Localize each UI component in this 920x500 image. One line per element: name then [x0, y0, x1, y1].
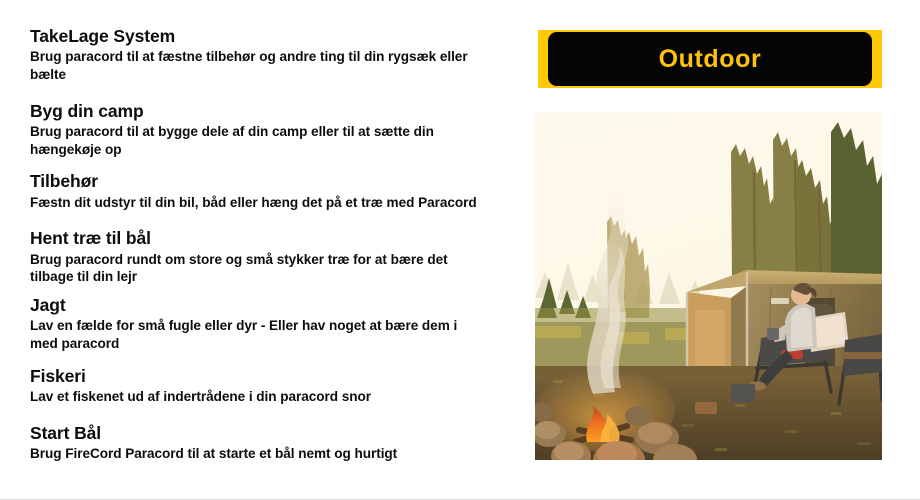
list-item: Start Bål Brug FireCord Paracord til at … [30, 423, 482, 463]
item-description: Lav et fiskenet ud af indertrådene i din… [30, 388, 482, 406]
item-title: TakeLage System [30, 26, 482, 47]
list-item: Byg din camp Brug paracord til at bygge … [30, 101, 482, 159]
item-title: Byg din camp [30, 101, 482, 122]
item-description: Brug paracord til at fæstne tilbehør og … [30, 48, 482, 83]
item-description: Brug paracord rundt om store og små styk… [30, 251, 482, 286]
list-item: Jagt Lav en fælde for små fugle eller dy… [30, 295, 482, 353]
list-item: Hent træ til bål Brug paracord rundt om … [30, 228, 482, 286]
slide-root: TakeLage System Brug paracord til at fæs… [0, 0, 920, 500]
item-title: Hent træ til bål [30, 228, 482, 249]
item-title: Start Bål [30, 423, 482, 444]
campsite-photo [535, 112, 882, 460]
list-item: TakeLage System Brug paracord til at fæs… [30, 26, 482, 84]
banner-inner-panel: Outdoor [548, 32, 872, 86]
item-title: Tilbehør [30, 171, 482, 192]
banner-title: Outdoor [659, 47, 762, 72]
item-description: Brug FireCord Paracord til at starte et … [30, 445, 482, 463]
item-description: Lav en fælde for små fugle eller dyr - E… [30, 317, 482, 352]
item-description: Fæstn dit udstyr til din bil, båd eller … [30, 194, 482, 212]
list-item: Tilbehør Fæstn dit udstyr til din bil, b… [30, 171, 482, 211]
item-description: Brug paracord til at bygge dele af din c… [30, 123, 482, 158]
item-title: Fiskeri [30, 366, 482, 387]
campsite-photo-image [535, 112, 882, 460]
feature-list: TakeLage System Brug paracord til at fæs… [30, 26, 482, 463]
item-title: Jagt [30, 295, 482, 316]
outdoor-banner: Outdoor [538, 30, 882, 88]
list-item: Fiskeri Lav et fiskenet ud af indertråde… [30, 366, 482, 406]
